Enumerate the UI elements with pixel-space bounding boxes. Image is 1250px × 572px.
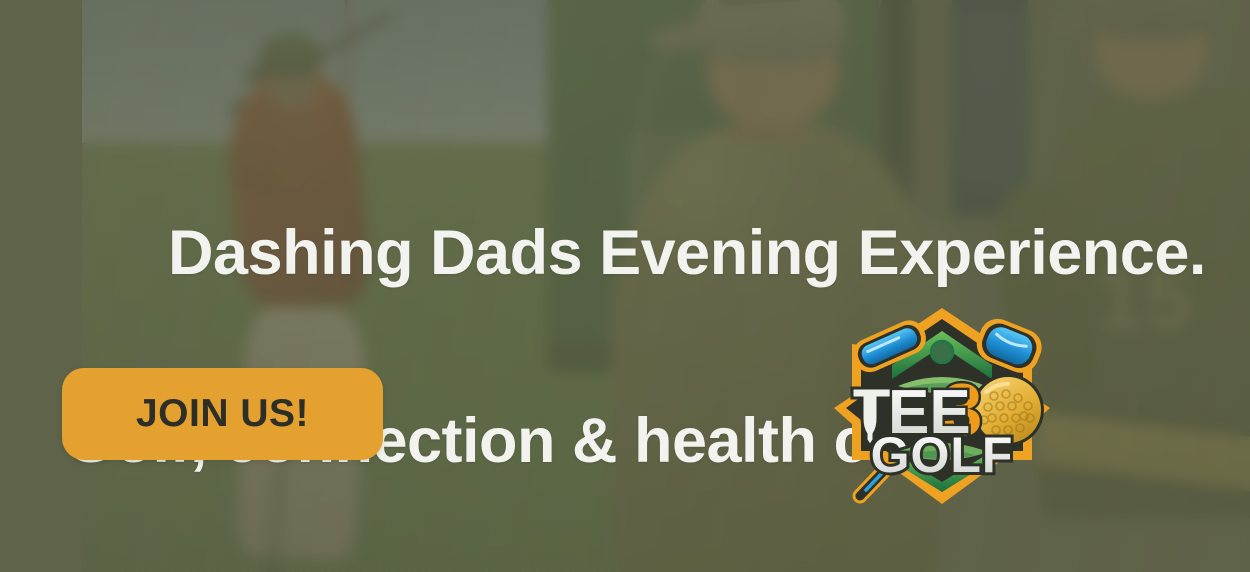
tee-30-golf-logo[interactable]: 3 EE GOLF [826, 300, 1058, 512]
banner-content: Dashing Dads Evening Experience. Golf, c… [0, 0, 1250, 572]
headline-line-1: Dashing Dads Evening Experience. [168, 218, 1206, 288]
apex-ball-dot [931, 341, 953, 363]
join-us-button[interactable]: JOIN US! [62, 368, 383, 460]
promo-banner: 10 [0, 0, 1250, 572]
logo-word-golf: GOLF [871, 427, 1014, 483]
